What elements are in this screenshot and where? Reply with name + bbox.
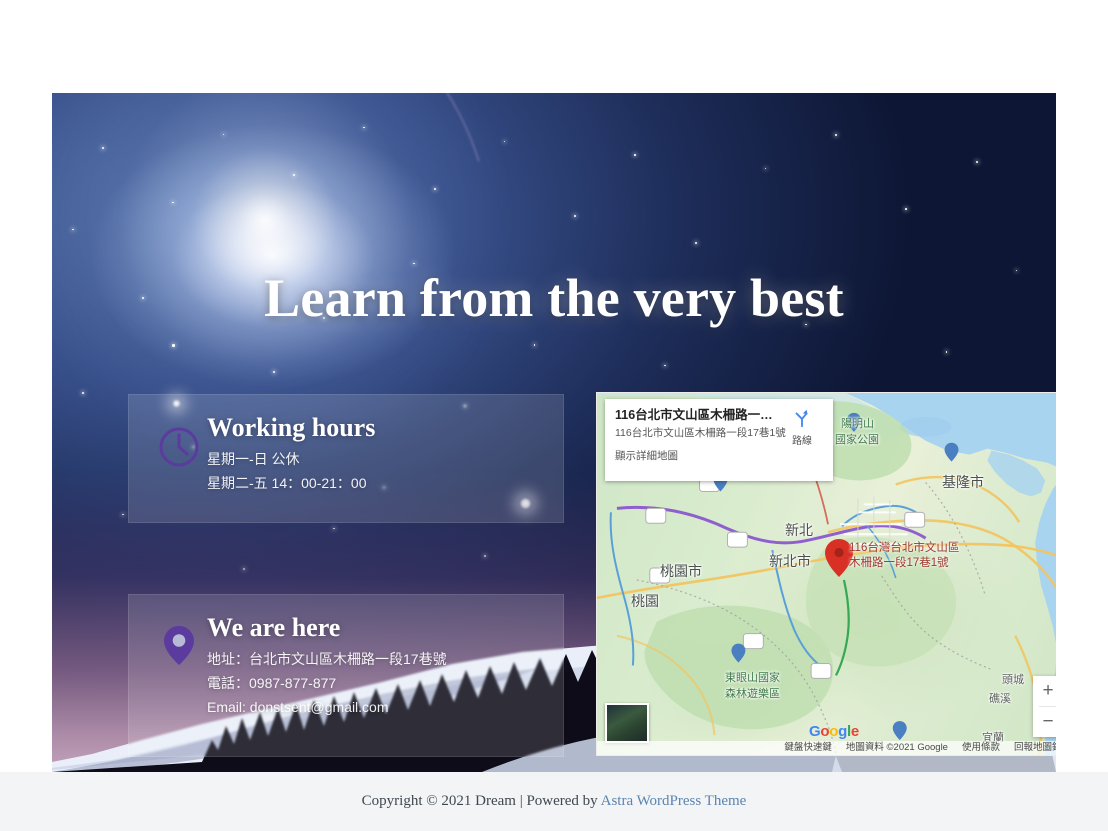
map-label: 國家公園	[835, 431, 879, 447]
map-info-popup[interactable]: 116台北市文山區木柵路一段1... 116台北市文山區木柵路一段17巷1號 顯…	[605, 399, 833, 481]
map-label: 礁溪	[989, 690, 1011, 706]
google-logo-letter: o	[820, 723, 829, 740]
popup-details-link[interactable]: 顯示詳細地圖	[615, 449, 823, 464]
we-are-here-lines: 地址：台北市文山區木柵路一段17巷號 電話：0987-877-877 Email…	[207, 647, 547, 719]
phone-line: 電話：0987-877-877	[207, 671, 547, 695]
map-zoom-controls[interactable]: + −	[1033, 676, 1056, 737]
marker-address-label: 116台灣台北市文山區木柵路一段17巷1號	[849, 541, 969, 571]
google-logo-letter: e	[851, 723, 859, 740]
working-hours-card: Working hours 星期一-日 公休 星期二-五 14：00-21：00	[128, 394, 564, 523]
map-label: 森林遊樂區	[725, 685, 780, 701]
site-footer: Copyright © 2021 Dream | Powered by Astr…	[0, 772, 1108, 831]
attribution-map-data: 地圖資料 ©2021 Google	[846, 741, 948, 755]
map-label: 東眼山國家	[725, 669, 780, 685]
zoom-in-button[interactable]: +	[1033, 676, 1056, 706]
map-label: 新北	[785, 520, 813, 540]
google-map[interactable]: 陽明山 國家公園 基隆市 新北 新北市 桃園市 桃園 東眼山國家 森林遊樂區 頭…	[596, 392, 1056, 756]
satellite-thumbnail-button[interactable]	[605, 703, 649, 743]
copyright-text: Copyright © 2021 Dream | Powered by Astr…	[362, 793, 747, 810]
map-label: 桃園	[631, 591, 659, 611]
page-title: Learn from the very best	[52, 267, 1056, 329]
directions-button[interactable]: 路線	[779, 407, 825, 447]
address-line: 地址：台北市文山區木柵路一段17巷號	[207, 647, 547, 671]
page-root: Learn from the very best Working hours 星…	[0, 0, 1108, 831]
popup-title: 116台北市文山區木柵路一段1...	[615, 407, 785, 423]
popup-subtitle: 116台北市文山區木柵路一段17巷1號	[615, 426, 787, 441]
attribution-report-error[interactable]: 回報地圖錯誤	[1014, 741, 1056, 755]
map-pin-icon	[155, 621, 203, 669]
map-label: 基隆市	[942, 472, 984, 492]
clock-icon	[155, 423, 203, 471]
we-are-here-card: We are here 地址：台北市文山區木柵路一段17巷號 電話：0987-8…	[128, 594, 564, 757]
attribution-terms[interactable]: 使用條款	[962, 741, 1000, 755]
map-label: 陽明山	[841, 415, 874, 431]
attribution-keyboard-shortcuts[interactable]: 鍵盤快速鍵	[784, 741, 832, 755]
working-hours-line-2: 星期二-五 14：00-21：00	[207, 471, 547, 495]
astra-theme-link[interactable]: Astra WordPress Theme	[601, 793, 747, 809]
map-label: 桃園市	[660, 561, 702, 581]
map-attribution: 鍵盤快速鍵 地圖資料 ©2021 Google 使用條款 回報地圖錯誤	[597, 741, 1056, 755]
we-are-here-title: We are here	[207, 610, 340, 646]
google-logo-letter: G	[809, 723, 820, 740]
google-logo-letter: g	[838, 723, 847, 740]
map-label: 新北市	[769, 551, 811, 571]
working-hours-title: Working hours	[207, 410, 375, 446]
directions-label: 路線	[779, 432, 825, 447]
email-line: Email: donstsent@gmail.com	[207, 695, 547, 719]
google-logo-letter: o	[829, 723, 838, 740]
working-hours-line-1: 星期一-日 公休	[207, 447, 547, 471]
zoom-out-button[interactable]: −	[1033, 707, 1056, 737]
map-label: 頭城	[1002, 671, 1024, 687]
working-hours-lines: 星期一-日 公休 星期二-五 14：00-21：00	[207, 447, 547, 495]
copyright-prefix: Copyright © 2021 Dream | Powered by	[362, 793, 601, 809]
directions-icon	[791, 407, 813, 429]
hero-section: Learn from the very best Working hours 星…	[52, 93, 1056, 772]
google-logo: Google	[809, 723, 859, 740]
